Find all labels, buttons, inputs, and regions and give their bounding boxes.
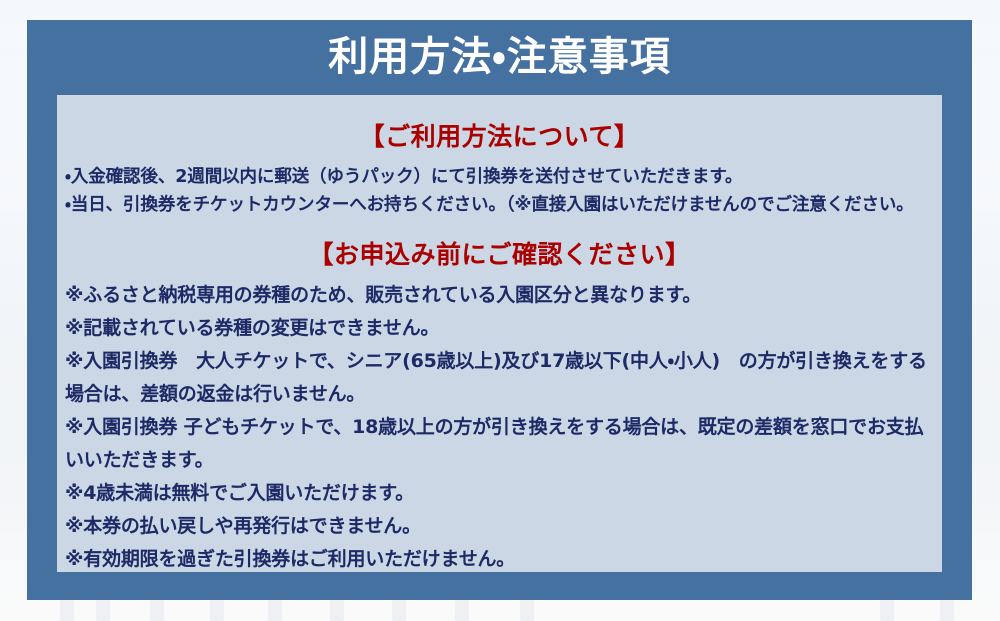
usage-bullet-item: ・入金確認後、2週間以内に郵送（ゆうパック）にて引換券を送付させていただきます。 bbox=[65, 163, 936, 191]
info-card-frame: 利用方法・注意事項 【ご利用方法について】 ・入金確認後、2週間以内に郵送（ゆう… bbox=[27, 20, 972, 600]
notice-item: ※入園引換券 大人チケットで、シニア(65歳以上)及び17歳以下(中人・小人) … bbox=[65, 345, 938, 411]
notice-item: ※入園引換券 子どもチケットで、18歳以上の方が引き換えをする場合は、既定の差額… bbox=[65, 411, 938, 477]
notice-item: ※有効期限を過ぎた引換券はご利用いただけません。 bbox=[65, 543, 938, 572]
section-heading-usage: 【ご利用方法について】 bbox=[57, 117, 942, 153]
notice-item: ※4歳未満は無料でご入園いただけます。 bbox=[65, 477, 938, 510]
notice-item: ※記載されている券種の変更はできません。 bbox=[65, 312, 938, 345]
usage-bullet-list: ・入金確認後、2週間以内に郵送（ゆうパック）にて引換券を送付させていただきます。… bbox=[57, 163, 942, 219]
notice-item: ※本券の払い戻しや再発行はできません。 bbox=[65, 510, 938, 543]
notice-list: ※ふるさと納税専用の券種のため、販売されている入園区分と異なります。 ※記載され… bbox=[57, 279, 942, 572]
notice-item: ※ふるさと納税専用の券種のため、販売されている入園区分と異なります。 bbox=[65, 279, 938, 312]
usage-bullet-item: ・当日、引換券をチケットカウンターへお持ちください。（※直接入園はいただけません… bbox=[65, 191, 936, 219]
content-panel: 【ご利用方法について】 ・入金確認後、2週間以内に郵送（ゆうパック）にて引換券を… bbox=[57, 95, 942, 572]
page-title: 利用方法・注意事項 bbox=[27, 20, 972, 95]
section-heading-before-apply: 【お申込み前にご確認ください】 bbox=[57, 235, 942, 271]
page-root: ADVENTURE WORLD 🐨 🐱 🐴 🐨 🐫 🦙 🐮 🐭 Welcome! bbox=[0, 0, 1000, 621]
